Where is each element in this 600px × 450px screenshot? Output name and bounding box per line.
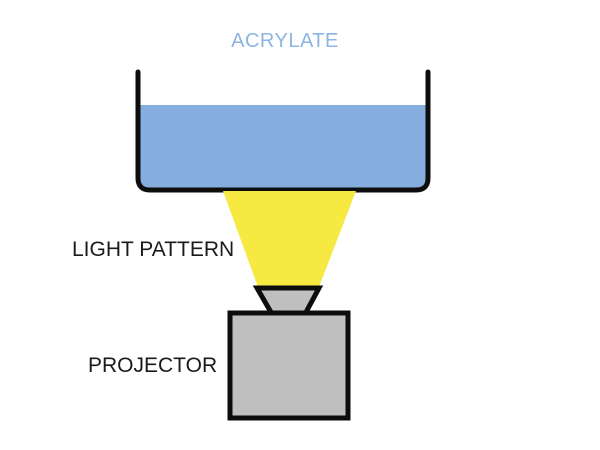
- acrylate-title: ACRYLATE: [231, 30, 339, 52]
- vat-photopolymerization-diagram: ACRYLATE LIGHT PATTERN PROJECTOR: [0, 0, 600, 450]
- projector-body: [230, 313, 348, 418]
- diagram-canvas: ACRYLATE LIGHT PATTERN PROJECTOR: [0, 0, 600, 450]
- projector-label: PROJECTOR: [88, 354, 217, 377]
- acrylate-liquid: [140, 105, 426, 188]
- light-pattern-label: LIGHT PATTERN: [72, 238, 234, 261]
